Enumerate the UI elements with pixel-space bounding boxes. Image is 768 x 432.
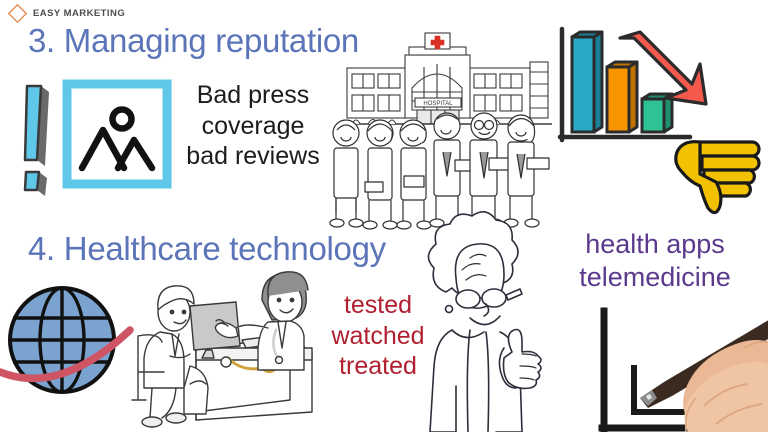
chart-bar-3	[642, 94, 672, 132]
elderly-woman-thumbs-up-illustration	[428, 212, 541, 432]
doctor-patient-consultation-illustration	[132, 272, 312, 427]
staff-person	[430, 113, 477, 227]
ttt-line-1: tested	[322, 290, 434, 321]
medical-staff-group-illustration	[330, 113, 549, 229]
doctor-figure	[215, 272, 308, 370]
section-heading-3: 3. Managing reputation	[28, 22, 359, 60]
bad-press-line-3: bad reviews	[178, 141, 328, 172]
drawing-hand-with-pen	[640, 318, 768, 432]
staff-person	[466, 113, 513, 227]
bad-press-text-block: Bad press coverage bad reviews	[178, 80, 328, 172]
hospital-building-illustration: HOSPITAL	[342, 33, 552, 124]
brand-name: EASY MARKETING	[33, 8, 125, 19]
thumbs-down-icon	[676, 142, 759, 213]
bad-press-line-1: Bad press	[178, 80, 328, 111]
health-apps-text-block: health apps telemedicine	[548, 228, 762, 294]
ttt-line-3: treated	[322, 351, 434, 382]
red-down-arrow-icon	[620, 32, 706, 104]
staff-person	[397, 120, 431, 229]
health-apps-line-1: health apps	[548, 228, 762, 261]
ttt-line-2: watched	[322, 321, 434, 352]
hospital-sign-label: HOSPITAL	[423, 101, 453, 107]
staff-person	[330, 120, 363, 227]
tested-watched-treated-text-block: tested watched treated	[322, 290, 434, 382]
brand-logo[interactable]: EASY MARKETING	[8, 4, 125, 23]
staff-person	[504, 115, 549, 227]
staff-person	[363, 120, 397, 229]
chart-bar-2	[607, 62, 637, 132]
hand-drawn-axes	[602, 311, 720, 432]
exclamation-mark-icon	[25, 86, 49, 196]
image-placeholder-icon	[67, 84, 167, 184]
health-apps-line-2: telemedicine	[548, 261, 762, 294]
chart-bar-1	[572, 32, 602, 132]
declining-bar-chart-icon	[560, 29, 690, 140]
patient-figure	[132, 286, 208, 427]
diamond-outline-icon	[8, 4, 27, 23]
bad-press-line-2: coverage	[178, 111, 328, 142]
globe-icon	[0, 288, 130, 392]
section-heading-4: 4. Healthcare technology	[28, 230, 386, 268]
whiteboard-canvas: EASY MARKETING 3. Managing reputation 4.…	[0, 0, 768, 432]
